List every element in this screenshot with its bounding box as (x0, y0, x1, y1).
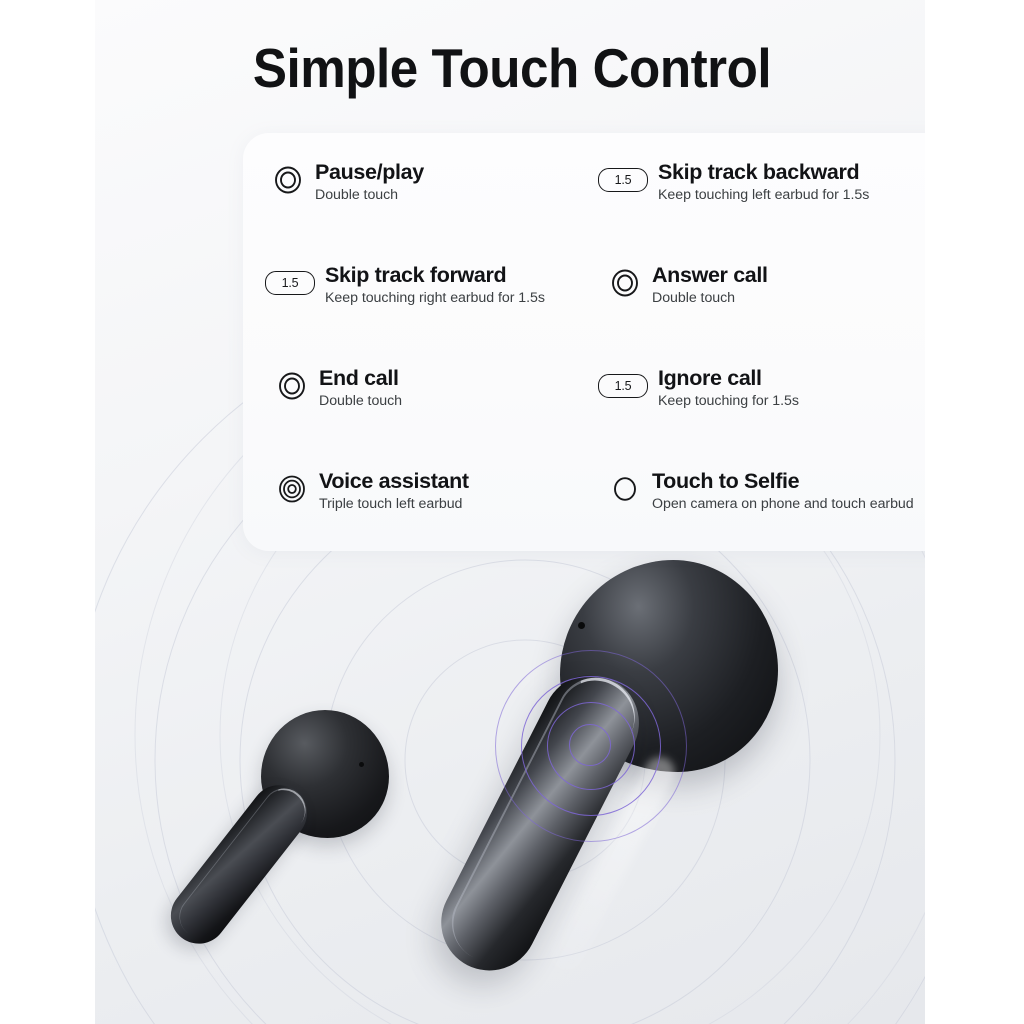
control-subtitle: Open camera on phone and touch earbud (652, 496, 914, 513)
hold-duration-pill-icon: 1.5 (265, 266, 315, 300)
earbud-secondary (215, 710, 445, 970)
hold-duration-pill-icon: 1.5 (598, 163, 648, 197)
earbud-secondary-stem-highlight (171, 780, 314, 947)
double-touch-circle-icon (608, 266, 642, 300)
control-item-end-call[interactable]: End call Double touch (275, 365, 402, 410)
triple-touch-circle-icon (275, 472, 309, 506)
control-title: Ignore call (658, 366, 799, 390)
control-title: End call (319, 366, 402, 390)
control-row-4: Voice assistant Triple touch left earbud… (243, 468, 925, 560)
double-touch-circle-icon (275, 369, 309, 403)
control-title: Answer call (652, 263, 768, 287)
control-subtitle: Keep touching right earbud for 1.5s (325, 290, 545, 307)
control-item-answer-call[interactable]: Answer call Double touch (608, 262, 768, 307)
ripple-ring-4 (495, 650, 687, 842)
control-subtitle: Triple touch left earbud (319, 496, 469, 513)
control-title: Skip track forward (325, 263, 545, 287)
control-item-voice-assistant[interactable]: Voice assistant Triple touch left earbud (275, 468, 469, 513)
infographic-page: Pause/play Double touch 1.5 Skip track b… (0, 0, 1024, 1024)
earbud-primary-mic-hole (578, 622, 585, 629)
content-canvas: Pause/play Double touch 1.5 Skip track b… (95, 0, 925, 1024)
control-item-skip-track-backward[interactable]: 1.5 Skip track backward Keep touching le… (598, 159, 869, 204)
control-subtitle: Keep touching left earbud for 1.5s (658, 187, 869, 204)
touch-ripple-indicator (495, 650, 715, 870)
control-row-1: Pause/play Double touch 1.5 Skip track b… (243, 159, 925, 251)
pill-label: 1.5 (265, 271, 315, 295)
pill-label: 1.5 (598, 374, 648, 398)
control-item-pause-play[interactable]: Pause/play Double touch (271, 159, 424, 204)
pill-label: 1.5 (598, 168, 648, 192)
product-image (95, 540, 925, 1024)
control-title: Touch to Selfie (652, 469, 914, 493)
control-item-ignore-call[interactable]: 1.5 Ignore call Keep touching for 1.5s (598, 365, 799, 410)
control-item-touch-to-selfie[interactable]: Touch to Selfie Open camera on phone and… (608, 468, 914, 513)
single-touch-circle-icon (608, 472, 642, 506)
double-touch-circle-icon (271, 163, 305, 197)
control-row-2: 1.5 Skip track forward Keep touching rig… (243, 262, 925, 354)
hold-duration-pill-icon: 1.5 (598, 369, 648, 403)
control-subtitle: Keep touching for 1.5s (658, 393, 799, 410)
control-title: Skip track backward (658, 160, 869, 184)
control-item-skip-track-forward[interactable]: 1.5 Skip track forward Keep touching rig… (265, 262, 545, 307)
control-subtitle: Double touch (315, 187, 424, 204)
control-title: Voice assistant (319, 469, 469, 493)
control-subtitle: Double touch (652, 290, 768, 307)
page-title: Simple Touch Control (36, 36, 988, 100)
touch-control-card: Pause/play Double touch 1.5 Skip track b… (243, 133, 925, 551)
control-row-3: End call Double touch 1.5 Ignore call Ke… (243, 365, 925, 457)
earbud-secondary-mic-hole (359, 762, 364, 767)
control-title: Pause/play (315, 160, 424, 184)
control-subtitle: Double touch (319, 393, 402, 410)
